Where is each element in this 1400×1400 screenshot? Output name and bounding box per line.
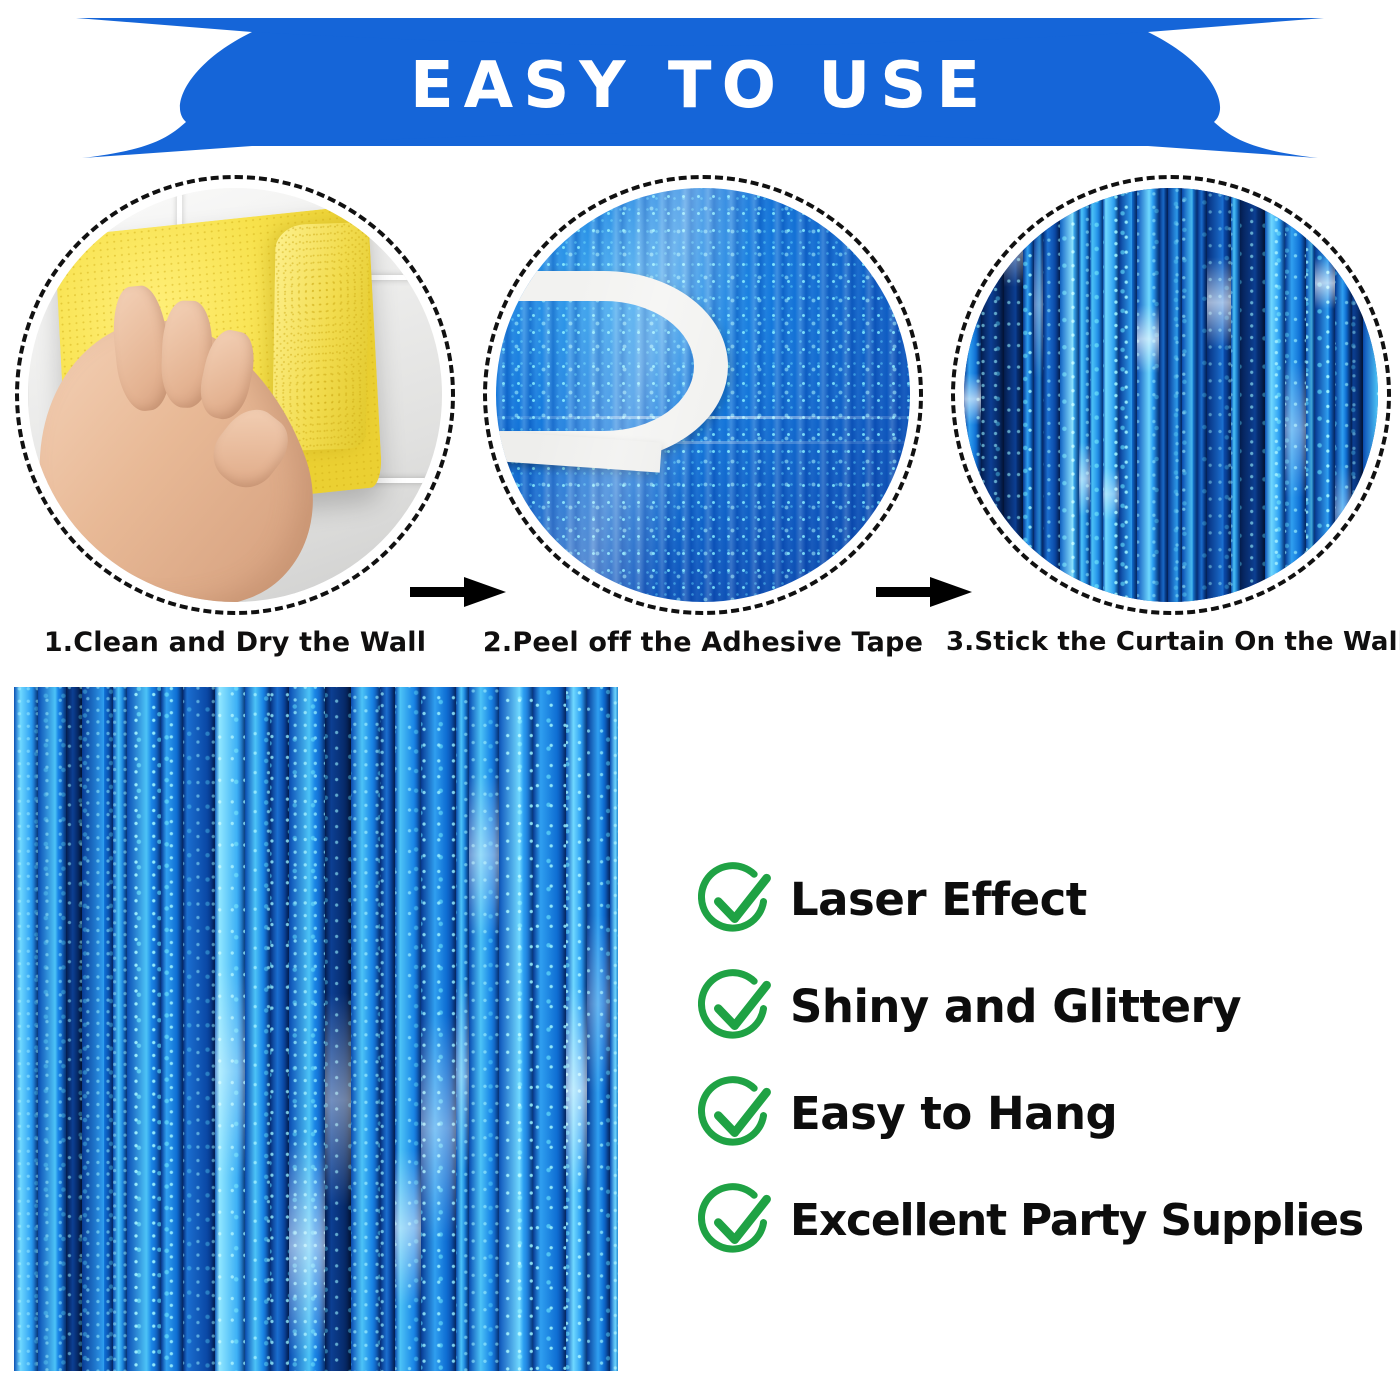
foil-fringe-curtain-large [14, 687, 618, 1371]
foil-strip [456, 687, 468, 1371]
foil-glitter [161, 687, 183, 1371]
foil-glitter [1207, 188, 1231, 602]
foil-strip [380, 687, 394, 1371]
foil-glitter [183, 687, 215, 1371]
foil-strip [245, 687, 270, 1371]
foil-strip [587, 687, 610, 1371]
foil-strip [1207, 188, 1231, 602]
foil-glitter [1315, 188, 1335, 602]
foil-strip [1240, 188, 1265, 602]
foil-strip [1043, 188, 1060, 602]
foil-gleam [566, 986, 588, 1192]
foil-strip [1265, 188, 1285, 602]
foil-strip [1168, 188, 1182, 602]
feature-label: Easy to Hang [790, 1091, 1117, 1136]
check-circle-icon [698, 1075, 776, 1153]
foil-strip [1034, 188, 1043, 602]
foil-glitter [351, 687, 380, 1371]
foil-gleam [1103, 468, 1119, 520]
foil-strip [1335, 188, 1351, 602]
foil-glitter [1079, 188, 1090, 602]
foil-strip [1079, 188, 1090, 602]
foil-glitter [1023, 188, 1034, 602]
hero-curtain-photo [14, 687, 618, 1371]
foil-glitter [1043, 188, 1060, 602]
list-item: Laser Effect [698, 846, 1388, 953]
foil-glitter [1137, 188, 1159, 602]
foil-glitter [380, 687, 394, 1371]
foil-glitter [14, 687, 38, 1371]
foil-glitter [1168, 188, 1182, 602]
step-3-circle-frame [951, 175, 1391, 615]
foil-strip [38, 687, 66, 1371]
foil-gleam [1335, 464, 1351, 559]
banner: EASY TO USE [0, 10, 1400, 165]
foil-glitter [1363, 188, 1378, 602]
list-item: Excellent Party Supplies [698, 1167, 1388, 1274]
foil-strip [1060, 188, 1079, 602]
step-3: 3.Stick the Curtain On the Wall [946, 175, 1396, 615]
foil-strip [1137, 188, 1159, 602]
foil-glitter [113, 687, 127, 1371]
foil-glitter [38, 687, 66, 1371]
step-3-photo [964, 188, 1378, 602]
foil-gleam [215, 965, 245, 1178]
foil-strip [421, 687, 457, 1371]
check-circle-icon [698, 968, 776, 1046]
foil-gleam [1034, 231, 1043, 377]
foil-glitter [127, 687, 160, 1371]
list-item: Easy to Hang [698, 1060, 1388, 1167]
foil-strip [215, 687, 245, 1371]
foil-gleam [1315, 257, 1335, 309]
foil-glitter [1231, 188, 1239, 602]
foil-gleam [456, 979, 468, 1171]
foil-strip [566, 687, 588, 1371]
foil-glitter [1103, 188, 1119, 602]
check-circle-icon [698, 1182, 776, 1260]
foil-strip [1363, 188, 1378, 602]
step-1-photo [28, 188, 442, 602]
foil-strip [325, 687, 352, 1371]
foil-strip [1197, 188, 1208, 602]
foil-gleam [1004, 201, 1023, 287]
steps-section: 1.Clean and Dry the Wall 2.Peel off the … [0, 175, 1400, 675]
foil-strip [270, 687, 290, 1371]
step-2-caption: 2.Peel off the Adhesive Tape [478, 627, 928, 658]
foil-strip [395, 687, 421, 1371]
foil-gleam [1285, 361, 1306, 499]
foil-glitter [245, 687, 270, 1371]
foil-glitter [499, 687, 534, 1371]
foil-glitter [1060, 188, 1079, 602]
foil-glitter [1306, 188, 1314, 602]
foil-strip [964, 188, 981, 602]
foil-strip [1315, 188, 1335, 602]
foil-glitter [1090, 188, 1104, 602]
step-1: 1.Clean and Dry the Wall [10, 175, 460, 615]
feature-label: Excellent Party Supplies [790, 1199, 1363, 1243]
foil-strip [14, 687, 38, 1371]
foil-strip [1182, 188, 1197, 602]
foil-strip [1119, 188, 1137, 602]
foil-glitter [1265, 188, 1285, 602]
foil-strip [1285, 188, 1306, 602]
foil-strip [981, 188, 1004, 602]
feature-label: Shiny and Glittery [790, 984, 1241, 1029]
foil-glitter [981, 188, 1004, 602]
foil-gleam [587, 915, 610, 1093]
foil-gleam [1079, 442, 1090, 515]
foil-sheen [496, 188, 910, 602]
step-3-caption: 3.Stick the Curtain On the Wall [946, 627, 1396, 657]
foil-glitter [1119, 188, 1137, 602]
foil-gleam [325, 993, 352, 1206]
foil-gleam [421, 1015, 457, 1243]
foil-strip [610, 687, 618, 1371]
foil-fringe-curtain [964, 188, 1378, 602]
foil-strip [499, 687, 534, 1371]
list-item: Shiny and Glittery [698, 953, 1388, 1060]
foil-strip [1231, 188, 1239, 602]
foil-strip [1004, 188, 1023, 602]
foil-strip [1103, 188, 1119, 602]
foil-gleam [289, 1136, 324, 1357]
feature-list: Laser Effect Shiny and Glittery Easy to … [698, 846, 1388, 1274]
foil-strip [1023, 188, 1034, 602]
foil-strip [161, 687, 183, 1371]
step-1-caption: 1.Clean and Dry the Wall [10, 627, 460, 658]
foil-strip [469, 687, 499, 1371]
foil-strip [113, 687, 127, 1371]
foil-glitter [610, 687, 618, 1371]
banner-ribbon-shape [0, 10, 1400, 165]
foil-strip [1090, 188, 1104, 602]
foil-glitter [270, 687, 290, 1371]
step-2: 2.Peel off the Adhesive Tape [478, 175, 928, 615]
foil-glitter [1182, 188, 1197, 602]
foil-strip [66, 687, 83, 1371]
foil-glitter [533, 687, 565, 1371]
foil-glitter [1197, 188, 1208, 602]
foil-gleam [395, 1150, 421, 1306]
step-2-circle-frame [483, 175, 923, 615]
foil-strip [127, 687, 160, 1371]
step-2-photo [496, 188, 910, 602]
foil-glitter [1159, 188, 1168, 602]
foil-gleam [964, 373, 981, 425]
check-circle-icon [698, 861, 776, 939]
step-1-circle-frame [15, 175, 455, 615]
foil-gleam [1137, 305, 1159, 374]
feature-label: Laser Effect [790, 877, 1087, 922]
foil-glitter [1240, 188, 1265, 602]
foil-strip [533, 687, 565, 1371]
foil-gleam [1207, 257, 1231, 347]
foil-strip [1351, 188, 1363, 602]
foil-strip [82, 687, 112, 1371]
foil-strip [1159, 188, 1168, 602]
foil-gleam [469, 773, 499, 937]
foil-strip [351, 687, 380, 1371]
foil-strip [183, 687, 215, 1371]
foil-glitter [82, 687, 112, 1371]
foil-strip [1306, 188, 1314, 602]
foil-strip [289, 687, 324, 1371]
foil-glitter [1351, 188, 1363, 602]
foil-glitter [66, 687, 83, 1371]
